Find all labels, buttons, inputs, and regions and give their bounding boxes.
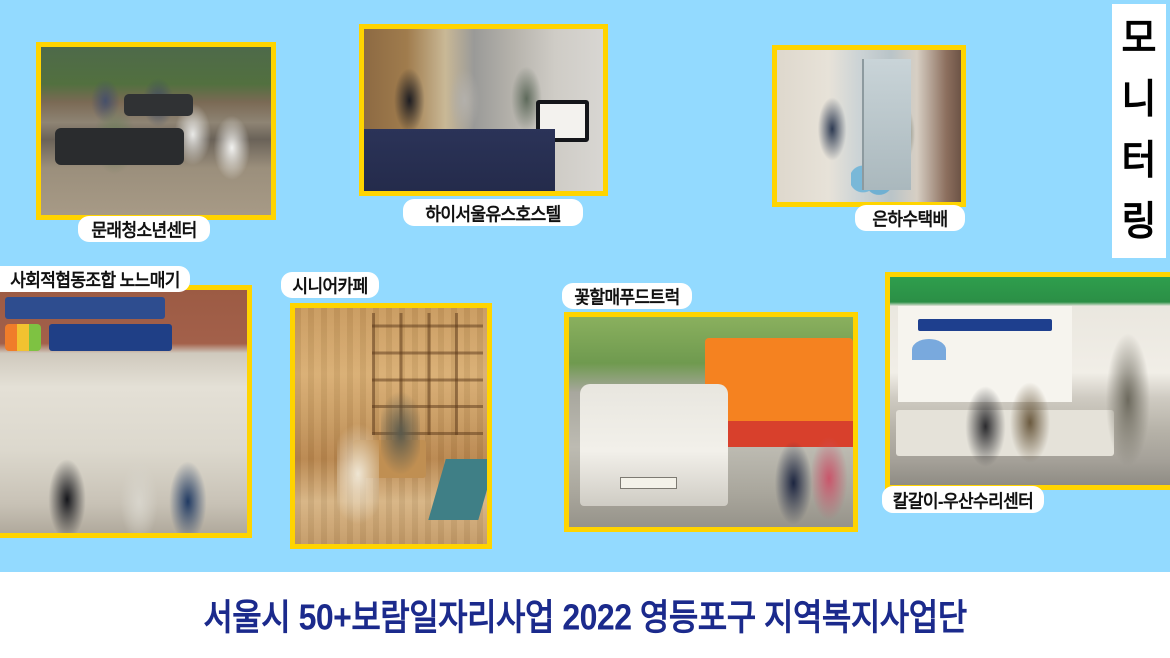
photo-caption-hi-seoul-youth-hostel: 하이서울유스호스텔 [403,199,583,226]
vertical-tab-char-3: 터 [1122,141,1157,181]
photo-image-senior-cafe [295,308,487,544]
caption-label: 칼갈이-우산수리센터 [893,486,1033,513]
photo-image-munrae-youth-center [41,47,271,215]
vertical-tab-char-4: 링 [1122,202,1157,242]
photo-caption-munrae-youth-center: 문래청소년센터 [78,216,210,242]
photo-image-kkotharmae-food-truck [569,317,853,527]
photo-caption-senior-cafe: 시니어카페 [281,272,379,298]
photo-card-nonemaegi-coop[interactable] [0,285,252,538]
photo-caption-kkotharmae-food-truck: 꽃할매푸드트럭 [562,283,692,309]
presentation-slide: 문래청소년센터 하이서울유스호스텔 은하수택배 사회적협동조합 노느매기 [0,0,1170,658]
photo-image-nonemaegi-coop [0,290,247,533]
photo-card-knife-umbrella-repair-center[interactable] [885,272,1170,490]
photo-card-senior-cafe[interactable] [290,303,492,549]
caption-label: 시니어카페 [292,271,367,298]
photo-caption-knife-umbrella-repair-center: 칼갈이-우산수리센터 [882,486,1044,513]
photo-card-munrae-youth-center[interactable] [36,42,276,220]
banner-title: 서울시 50+보람일자리사업 2022 영등포구 지역복지사업단 [203,589,966,641]
caption-label: 은하수택배 [872,204,947,231]
caption-label: 사회적협동조합 노느매기 [10,265,180,292]
photo-card-eunhasu-delivery[interactable] [772,45,966,207]
caption-label: 문래청소년센터 [91,215,196,242]
caption-label: 하이서울유스호스텔 [425,199,560,226]
vertical-tab-char-2: 니 [1122,80,1157,120]
photo-card-hi-seoul-youth-hostel[interactable] [359,24,608,196]
vertical-tab-char-1: 모 [1122,19,1157,59]
bottom-banner: 서울시 50+보람일자리사업 2022 영등포구 지역복지사업단 [0,572,1170,658]
photo-image-hi-seoul-youth-hostel [364,29,603,191]
photo-image-knife-umbrella-repair-center [890,277,1170,485]
photo-caption-eunhasu-delivery: 은하수택배 [855,205,965,231]
photo-caption-nonemaegi-coop: 사회적협동조합 노느매기 [0,266,190,292]
caption-label: 꽃할매푸드트럭 [574,282,679,309]
vertical-tab-monitoring: 모 니 터 링 [1112,4,1166,258]
photo-image-eunhasu-delivery [777,50,961,202]
photo-card-kkotharmae-food-truck[interactable] [564,312,858,532]
